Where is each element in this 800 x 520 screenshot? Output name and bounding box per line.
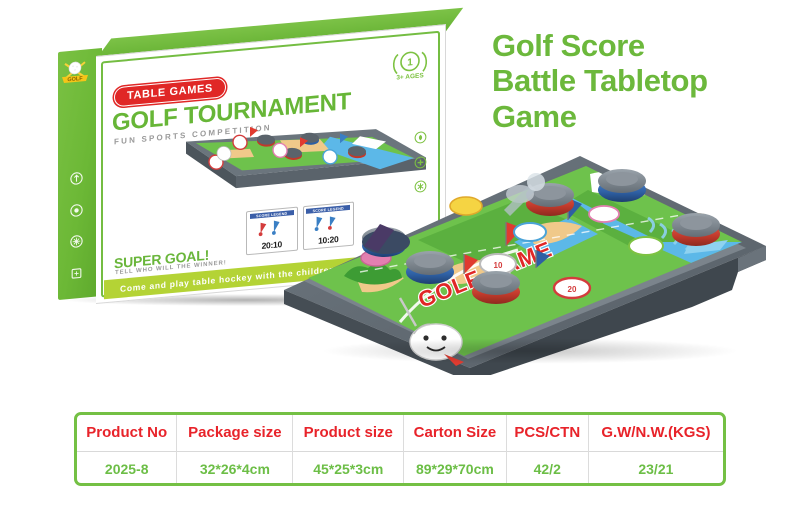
col-gw-nw: G.W/N.W.(KGS) [588, 415, 723, 451]
svg-text:1: 1 [407, 57, 413, 69]
svg-text:3+ AGES: 3+ AGES [396, 72, 424, 82]
headline-line-2: Battle Tabletop [492, 63, 792, 98]
val-package-size: 32*26*4cm [177, 451, 293, 486]
feature-icon-1 [70, 171, 83, 185]
feature-icon-4 [70, 266, 83, 280]
svg-text:20: 20 [568, 285, 577, 294]
spine-feature-icons [65, 171, 87, 281]
player-silhouette [362, 224, 410, 254]
val-pcs-ctn: 42/2 [506, 451, 588, 486]
val-product-no: 2025-8 [77, 451, 177, 486]
product-marketing-image: Golf Score Battle Tabletop Game GOLF [0, 0, 800, 520]
table-row: 2025-8 32*26*4cm 45*25*3cm 89*29*70cm 42… [77, 451, 723, 486]
product-photo: GOLF GAME 10 20 [268, 150, 788, 375]
headline-line-1: Golf Score [492, 28, 792, 63]
eco-icon-1 [413, 131, 428, 147]
val-carton-size: 89*29*70cm [404, 451, 507, 486]
age-rating-icon: 1 3+ AGES [389, 45, 431, 85]
svg-text:GOLF: GOLF [67, 76, 83, 83]
val-gw-nw: 23/21 [588, 451, 723, 486]
col-carton-size: Carton Size [404, 415, 507, 451]
feature-icon-2 [70, 203, 83, 217]
col-product-no: Product No [77, 415, 177, 451]
col-product-size: Product size [293, 415, 404, 451]
table-header-row: Product No Package size Product size Car… [77, 415, 723, 451]
specification-table: Product No Package size Product size Car… [74, 412, 726, 486]
svg-text:10: 10 [494, 261, 503, 270]
col-package-size: Package size [177, 415, 293, 451]
val-product-size: 45*25*3cm [293, 451, 404, 486]
feature-icon-3 [70, 235, 83, 249]
page-title: Golf Score Battle Tabletop Game [492, 28, 792, 134]
col-pcs-ctn: PCS/CTN [506, 415, 588, 451]
product-shadow [320, 338, 740, 364]
headline-line-3: Game [492, 99, 792, 134]
golf-logo-icon: GOLF [60, 57, 90, 88]
